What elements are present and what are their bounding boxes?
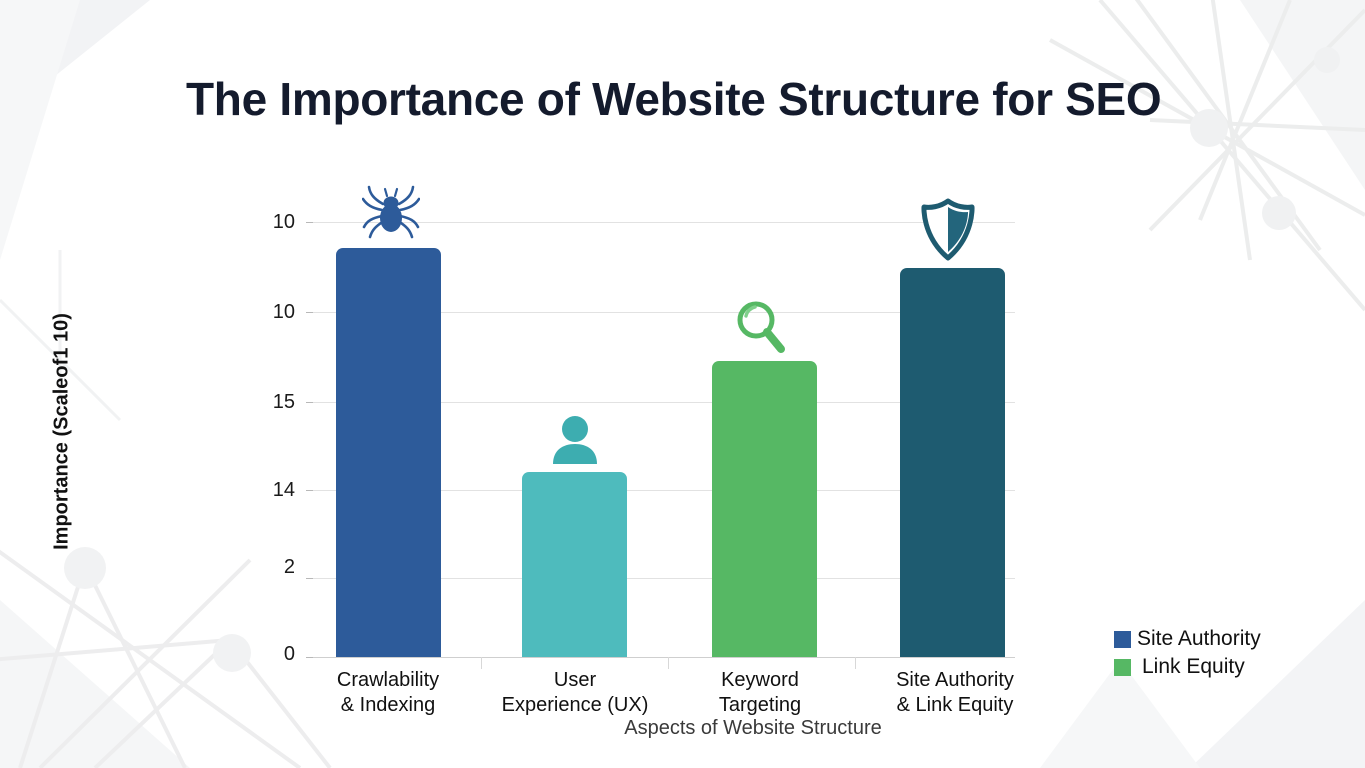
- user-icon: [547, 414, 603, 464]
- y-axis-label: Importance (Scaleof1 10): [51, 267, 74, 597]
- ytick-label-1: 10: [240, 301, 295, 324]
- legend-item-link-equity[interactable]: Link Equity: [1114, 653, 1261, 681]
- x-axis-label: Aspects of Website Structure: [453, 717, 1053, 740]
- ytick-mark-4: [306, 578, 313, 579]
- xaxis-divider-3: [855, 657, 856, 669]
- ytick-label-4: 2: [240, 556, 295, 579]
- page-title: The Importance of Website Structure for …: [186, 72, 1186, 126]
- xtick-line-2: Experience (UX): [480, 693, 670, 718]
- xtick-label-site-authority: Site Authority & Link Equity: [862, 668, 1048, 718]
- legend-item-site-authority[interactable]: Site Authority: [1114, 625, 1261, 653]
- ytick-label-0: 10: [240, 211, 295, 234]
- spider-icon: [362, 182, 420, 242]
- xtick-label-user-experience: User Experience (UX): [480, 668, 670, 718]
- ytick-label-2: 15: [240, 391, 295, 414]
- ytick-label-5: 0: [240, 643, 295, 666]
- xtick-line-1: Keyword: [675, 668, 845, 693]
- chart-legend: Site Authority Link Equity: [1114, 625, 1261, 681]
- xtick-line-1: User: [480, 668, 670, 693]
- shield-icon: [918, 198, 978, 262]
- magnifier-icon: [733, 298, 789, 356]
- bar-site-authority-link-equity[interactable]: [900, 268, 1005, 657]
- legend-swatch-site-authority: [1114, 631, 1131, 648]
- axis-baseline: [313, 657, 1015, 658]
- legend-label-site-authority: Site Authority: [1137, 627, 1261, 651]
- xtick-line-1: Crawlability: [303, 668, 473, 693]
- ytick-mark-3: [306, 490, 313, 491]
- bar-crawlability-indexing[interactable]: [336, 248, 441, 657]
- ytick-label-3: 14: [240, 479, 295, 502]
- legend-label-link-equity: Link Equity: [1142, 655, 1245, 679]
- legend-swatch-link-equity: [1114, 659, 1131, 676]
- xtick-label-keyword-targeting: Keyword Targeting: [675, 668, 845, 718]
- ytick-mark-2: [306, 402, 313, 403]
- xtick-line-2: Targeting: [675, 693, 845, 718]
- bar-user-experience[interactable]: [522, 472, 627, 657]
- xtick-line-1: Site Authority: [862, 668, 1048, 693]
- xtick-line-2: & Indexing: [303, 693, 473, 718]
- ytick-mark-1: [306, 312, 313, 313]
- ytick-mark-5: [306, 657, 313, 658]
- xtick-line-2: & Link Equity: [862, 693, 1048, 718]
- bar-keyword-targeting[interactable]: [712, 361, 817, 657]
- xtick-label-crawlability: Crawlability & Indexing: [303, 668, 473, 718]
- ytick-mark-0: [306, 222, 313, 223]
